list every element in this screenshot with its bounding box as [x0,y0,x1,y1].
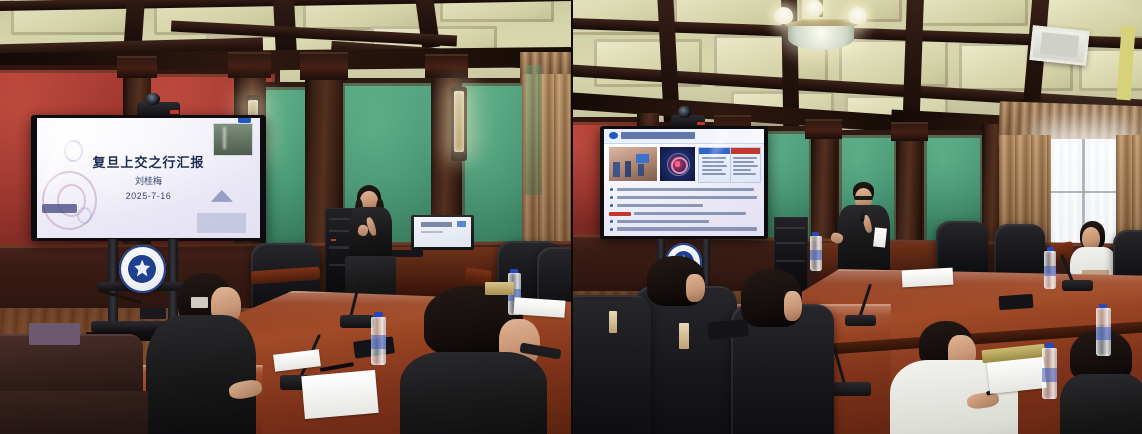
attendee-front-left [143,273,291,434]
slide-bullet-line [617,227,758,230]
rack-detail [776,242,805,244]
slide-bullet-line [617,220,710,223]
column-capital [300,52,349,80]
column-capital [228,52,271,78]
presentation-screen[interactable] [600,126,768,239]
wall-panel-green [525,65,542,195]
slide-highlight-tag [609,212,631,216]
chair-tag [679,323,689,349]
slide-presenter-name: 刘桂梅 [37,174,259,187]
water-bottle [1042,247,1058,288]
bottle-label [1044,266,1056,276]
camera-led-icon [697,122,705,125]
chandelier-bowl [788,26,854,50]
microphone-base[interactable] [1062,280,1093,291]
video-pip [213,123,253,156]
torso [1060,374,1142,434]
slide-photo-figure [625,161,631,177]
wall-sconce-light [454,91,464,152]
ac-grille [1040,33,1079,59]
water-bottle [1039,343,1060,399]
panel-line [702,165,728,167]
presentation-screen[interactable]: 复旦上交之行汇报 刘桂梅 2025-7-16 [31,115,265,241]
slide-photo-figure [613,162,620,176]
slide-photo-figure [638,164,644,176]
presentation-photo-left: 复旦上交之行汇报 刘桂梅 2025-7-16 [0,0,571,434]
presentation-photo-right [571,0,1142,434]
bottle-label [1042,368,1058,383]
rack-detail [776,227,805,229]
water-bottle [808,232,824,271]
floor-box [140,308,166,319]
bottle-label [810,250,822,260]
leather-sofa [0,391,148,434]
column-capital [891,122,928,142]
wall-outlet [191,297,208,308]
water-bottle [1093,304,1112,356]
slide-ornament [77,207,92,224]
slide-bullet-line [634,212,746,215]
head [686,274,705,302]
pip-badge-icon [238,118,252,123]
panel-line [702,173,726,175]
slide-diagram [660,147,695,181]
ceiling-coffer [919,0,1027,26]
microphone-base[interactable] [845,315,876,326]
right-slide-header: 复旦大学临床医学专业 [0,0,10,1]
bottle-label [1096,327,1111,341]
paper-document [301,370,379,420]
slide-content-page [604,129,764,236]
chandelier-lamp [805,0,823,16]
attendee-seated-left [640,256,714,325]
panel-line [733,165,758,167]
monitor-content [421,231,442,233]
slide-footer-badge [42,204,78,212]
slide-panel-right [730,147,761,183]
torso [146,315,256,434]
smartphone [999,294,1034,310]
panel-line [702,169,723,171]
slide-bullet-line [617,204,703,207]
microphone-base[interactable] [831,382,871,396]
water-bottle [368,312,389,364]
computer-monitor [411,215,474,250]
panel-line [733,169,751,171]
pip-figure [223,127,227,149]
slide-bullet-icon [610,188,613,191]
composite-image: 复旦上交之行汇报 刘桂梅 2025-7-16 [0,0,1142,434]
slide-bullet-icon [610,228,613,231]
panel-line [733,157,756,159]
bottle-label [371,335,387,349]
chair-tag [609,311,617,333]
air-conditioner-vent [1029,25,1089,65]
chandelier-lamp [774,7,793,24]
monitor-screen [414,217,471,248]
paper-document [902,268,954,288]
panel-line [733,161,753,163]
slide-photo-screen [636,154,648,163]
chandelier-lamp [848,7,867,24]
wristwatch [226,374,235,383]
monitor-content [421,222,452,226]
column-capital [117,56,157,78]
diagram-core [675,161,681,167]
eyeglasses [854,196,873,201]
office-chair[interactable] [994,224,1045,280]
column-capital [425,54,468,78]
slide-header-text [621,132,695,138]
camera-led-icon [170,110,179,114]
slide-photo [609,147,657,181]
slide-title-page: 复旦上交之行汇报 刘桂梅 2025-7-16 [37,118,259,238]
slide-bullet-icon [610,204,613,207]
ceiling-coffer [839,39,947,87]
window-mullion [1051,191,1120,193]
slide-bullet-icon [610,196,613,199]
panel-line [733,173,755,175]
rack-detail [776,260,805,262]
head [784,291,802,321]
photo-divider [571,0,573,434]
monitor-content [457,221,466,228]
slide-bullet-icon [610,220,613,223]
conference-camera [137,102,180,116]
slide-bullet-line [617,188,755,191]
cushion [29,323,80,345]
folder [485,282,514,295]
panel-header [731,148,760,154]
torso [400,352,547,434]
slide-bullet-line [617,196,758,199]
camera-lens-icon [678,106,691,117]
column-capital [805,119,842,139]
paper-notes [873,228,887,249]
